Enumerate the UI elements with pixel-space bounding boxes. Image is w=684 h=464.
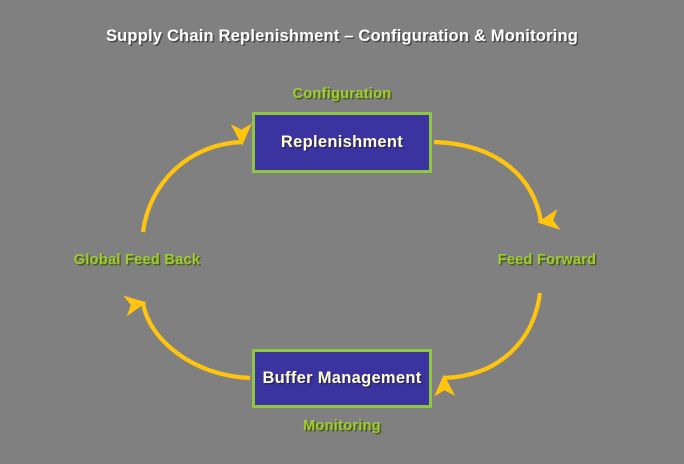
page-title: Supply Chain Replenishment – Configurati…	[0, 27, 684, 46]
flow-label-configuration: Configuration	[252, 86, 432, 102]
flow-label-monitoring: Monitoring	[252, 418, 432, 434]
arrow-global-feed-back-to-replenishment	[143, 142, 242, 232]
arrow-replenishment-to-feed-forward	[434, 142, 541, 222]
flow-label-feed-forward: Feed Forward	[452, 252, 642, 268]
flow-label-global-feed-back: Global Feed Back	[42, 252, 232, 268]
node-buffer-management-label: Buffer Management	[262, 369, 421, 388]
arrow-feed-forward-to-buffer-management	[444, 293, 540, 378]
diagram-canvas: Supply Chain Replenishment – Configurati…	[0, 0, 684, 464]
node-replenishment[interactable]: Replenishment	[252, 112, 432, 173]
node-replenishment-label: Replenishment	[281, 133, 403, 152]
node-buffer-management[interactable]: Buffer Management	[252, 349, 432, 408]
arrow-buffer-management-to-global-feed-back	[143, 303, 250, 378]
